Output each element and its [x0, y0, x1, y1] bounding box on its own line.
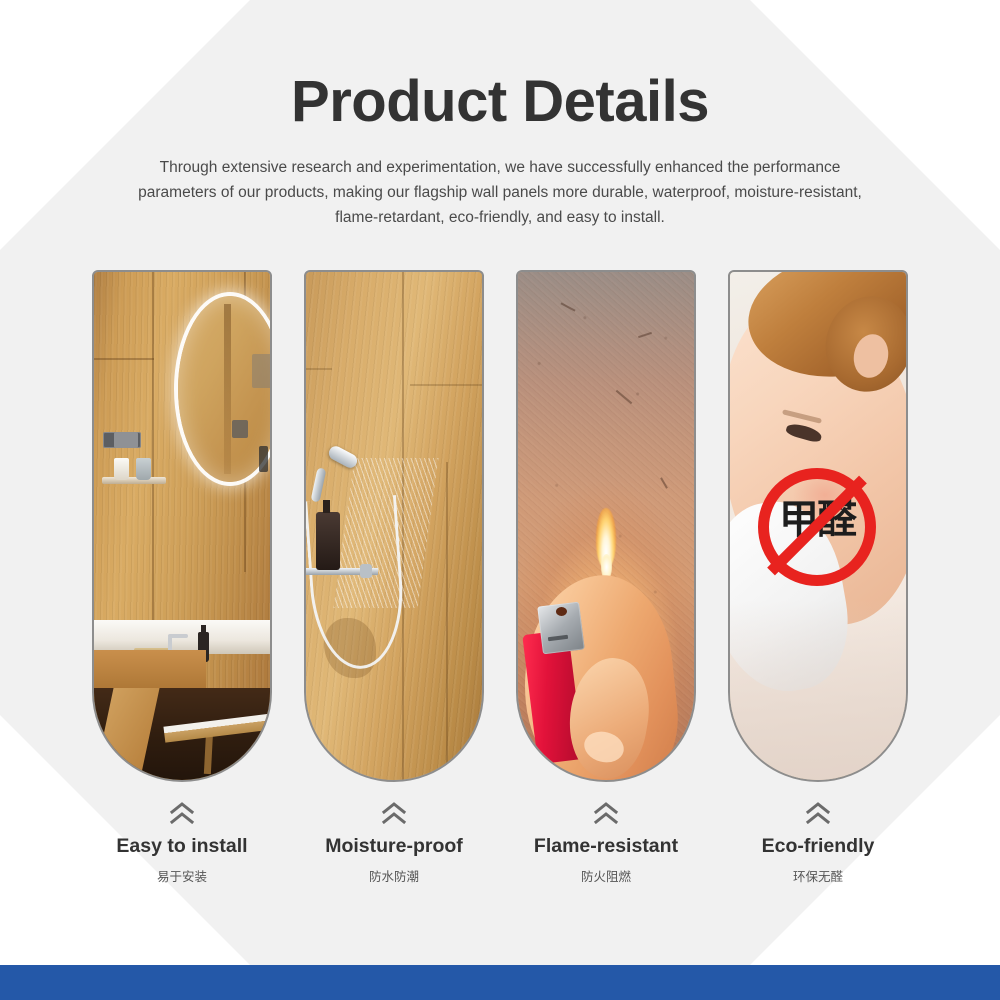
feature-caption: Moisture-proof 防水防潮	[289, 802, 499, 885]
double-chevron-up-icon	[593, 802, 619, 824]
panel-seam	[306, 368, 332, 370]
faucet-spout	[168, 634, 188, 638]
page-header: Product Details Through extensive resear…	[0, 0, 1000, 230]
double-chevron-up-icon	[381, 802, 407, 824]
mirror-reflection-panel	[252, 354, 270, 388]
bottom-blur	[730, 600, 906, 780]
feature-item-flame-resistant[interactable]: Flame-resistant 防火阻燃	[516, 270, 696, 885]
page-title: Product Details	[0, 0, 1000, 133]
baby-eco-image: 甲醛	[730, 272, 906, 780]
feature-subtitle-cn: 防水防潮	[289, 866, 499, 885]
shelf-bracket	[360, 564, 372, 578]
feature-caption: Flame-resistant 防火阻燃	[501, 802, 711, 885]
mirror-reflection-door	[224, 304, 231, 474]
panel-seam	[410, 384, 482, 386]
flame-test-image	[518, 272, 694, 780]
feature-title: Eco-friendly	[713, 836, 923, 857]
feature-image-moisture-proof[interactable]	[304, 270, 484, 782]
feature-title: Moisture-proof	[289, 836, 499, 857]
feature-subtitle-cn: 防火阻燃	[501, 866, 711, 885]
feature-title: Flame-resistant	[501, 836, 711, 857]
bottom-accent-bar	[0, 965, 1000, 1000]
double-chevron-up-icon	[805, 802, 831, 824]
feature-image-easy-to-install[interactable]	[92, 270, 272, 782]
feature-item-moisture-proof[interactable]: Moisture-proof 防水防潮	[304, 270, 484, 885]
panel-seam	[446, 462, 448, 780]
feature-item-easy-to-install[interactable]: Easy to install 易于安装	[92, 270, 272, 885]
feature-image-eco-friendly[interactable]: 甲醛	[728, 270, 908, 782]
shelf-cup	[136, 458, 151, 480]
page-subtitle: Through extensive research and experimen…	[120, 155, 880, 230]
panel-seam	[94, 358, 154, 360]
mirror-reflection-bottle	[259, 446, 268, 472]
soap-dispenser	[316, 512, 340, 570]
feature-image-flame-resistant[interactable]	[516, 270, 696, 782]
wall-switch-buttons	[114, 432, 138, 448]
double-chevron-up-icon	[169, 802, 195, 824]
lighter-nozzle	[556, 607, 567, 616]
feature-caption: Eco-friendly 环保无醛	[713, 802, 923, 885]
feature-subtitle-cn: 环保无醛	[713, 866, 923, 885]
wall-shelf	[102, 477, 166, 484]
shower-panel-image	[306, 272, 482, 780]
page-root: Product Details Through extensive resear…	[0, 0, 1000, 1000]
feature-caption: Easy to install 易于安装	[77, 802, 287, 885]
feature-item-eco-friendly[interactable]: 甲醛 Eco-friendly 环保无醛	[728, 270, 908, 885]
feature-title: Easy to install	[77, 836, 287, 857]
feature-panel-row: Easy to install 易于安装	[0, 270, 1000, 885]
shelf-cup	[114, 458, 129, 480]
feature-subtitle-cn: 易于安装	[77, 866, 287, 885]
mirror-reflection-switch	[232, 420, 248, 438]
bathroom-vanity-image	[94, 272, 270, 780]
